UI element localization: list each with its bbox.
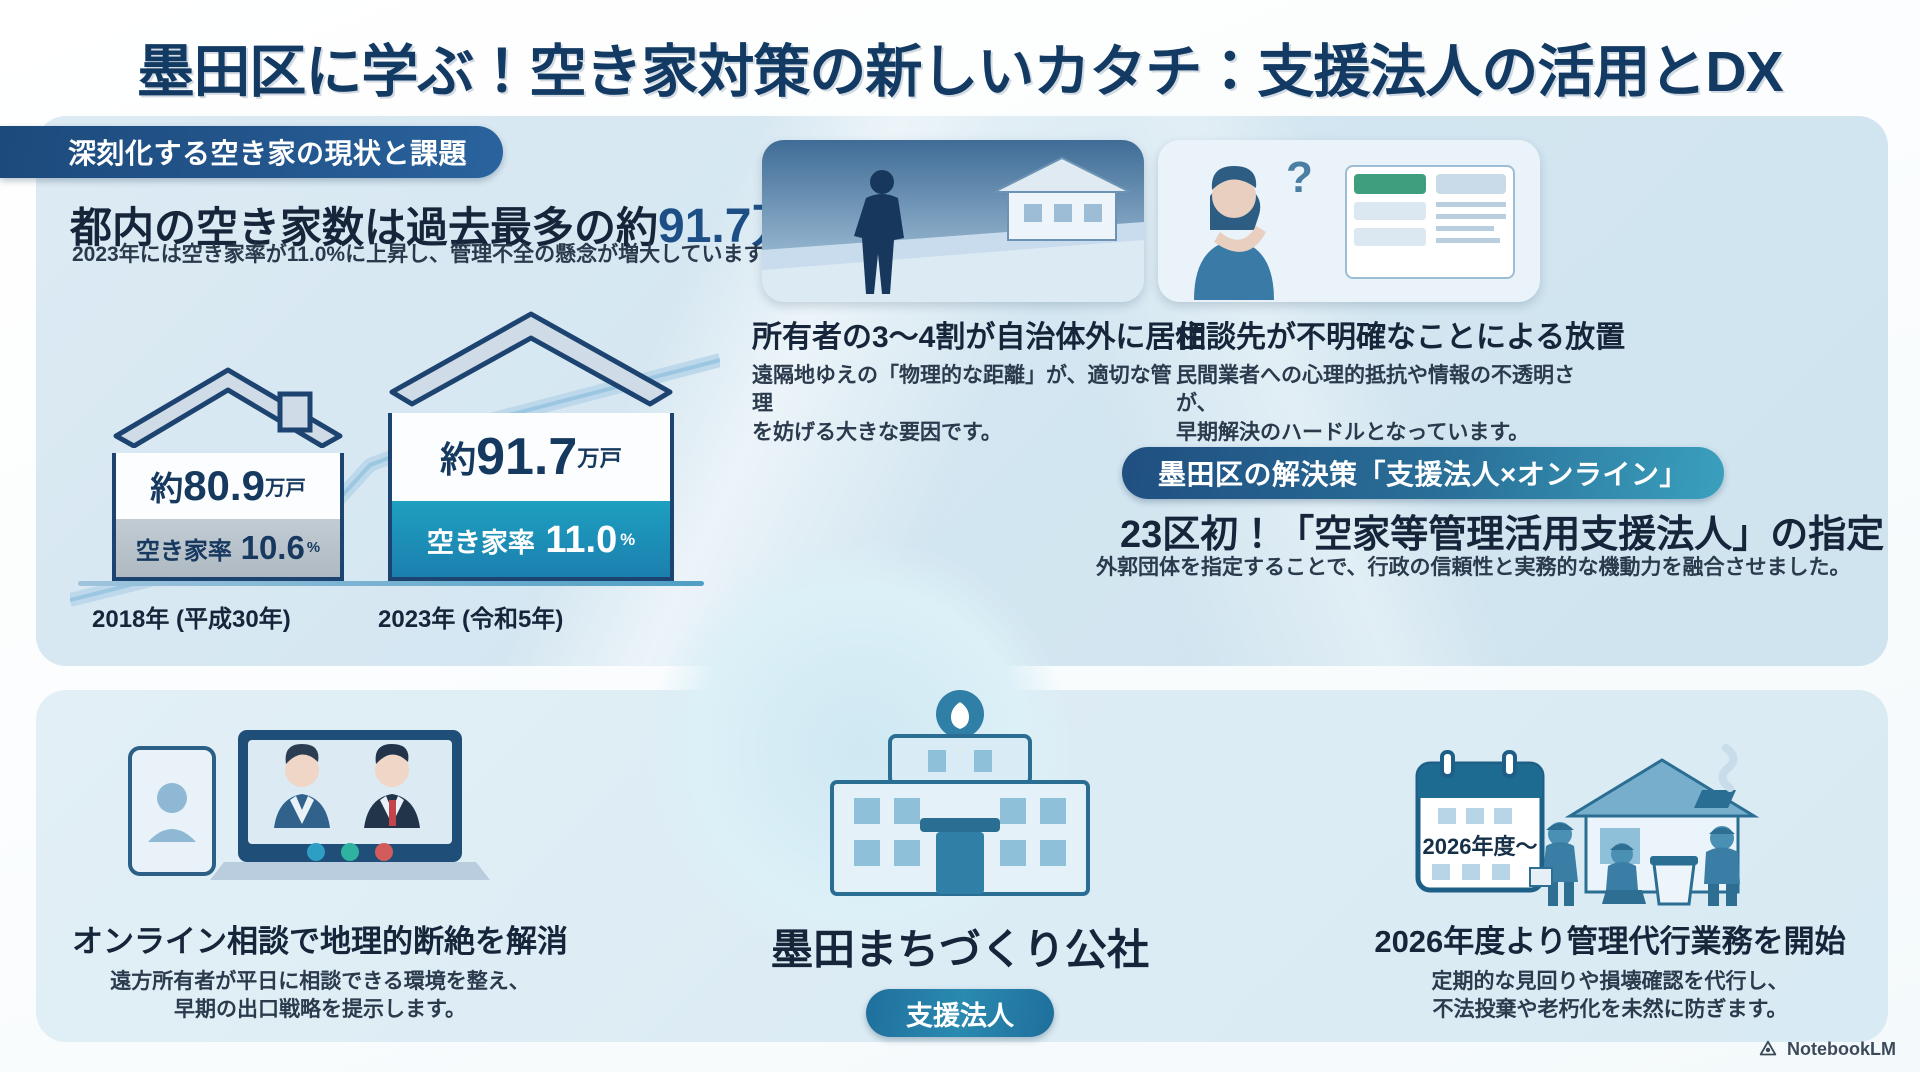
page-title-text: 墨田区に学ぶ！空き家対策の新しいカタチ：支援法人の活用とDX: [137, 26, 1782, 108]
badge-current-situation: 深刻化する空き家の現状と課題: [0, 126, 503, 178]
issue-card-1-title: 所有者の3〜4割が自治体外に居住: [752, 312, 1172, 356]
support-corporation-pill: 支援法人: [866, 989, 1054, 1037]
chart-xtick-2023: 2023年 (令和5年): [378, 599, 563, 634]
chart-bar-2018: 約80.9万戸 空き家率 10.6%: [112, 364, 344, 581]
bottom-column-online-title: オンライン相談で地理的断絶を解消: [60, 916, 580, 961]
issue-card-1-illustration: [762, 140, 1144, 302]
svg-text:?: ?: [1286, 153, 1313, 202]
chart-bar-2018-body: 約80.9万戸 空き家率 10.6%: [112, 453, 344, 581]
infographic-canvas: 墨田区に学ぶ！空き家対策の新しいカタチ：支援法人の活用とDX 深刻化する空き家の…: [0, 0, 1920, 1072]
bottom-column-management: 2026年度より管理代行業務を開始 定期的な見回りや損壊確認を代行し、 不法投棄…: [1330, 916, 1890, 1025]
solution-headline: 23区初！「空家等管理活用支援法人」の指定: [1120, 503, 1884, 558]
vacant-house-chart: 約80.9万戸 空き家率 10.6% 約91.7万戸 空き家率 11.0%: [70, 272, 710, 638]
chart-xtick-2018: 2018年 (平成30年): [92, 599, 291, 634]
solution-subtext: 外郭団体を指定することで、行政の信頼性と実務的な機動力を融合させました。: [1096, 551, 1851, 581]
issue-card-2-body: 民間業者への心理的抵抗や情報の不透明さが、 早期解決のハードルとなっています。: [1176, 362, 1616, 447]
chart-bar-2018-value: 約80.9万戸: [116, 453, 340, 519]
issue-card-2-title: 相談先が不明確なことによる放置: [1176, 312, 1616, 356]
issue-card-1-body: 遠隔地ゆえの「物理的な距離」が、適切な管理 を妨げる大きな要因です。: [752, 362, 1172, 447]
chart-baseline: [78, 581, 704, 586]
calendar-year-label: 2026年度〜: [1423, 834, 1538, 859]
chart-bar-2023-body: 約91.7万戸 空き家率 11.0%: [388, 413, 674, 581]
notebooklm-watermark: NotebookLM: [1757, 1038, 1896, 1060]
government-building-illustration: [770, 690, 1150, 910]
chart-bar-2023: 約91.7万戸 空き家率 11.0%: [388, 308, 674, 581]
issue-card-2-illustration: ?: [1158, 140, 1540, 302]
bottom-column-management-body: 定期的な見回りや損壊確認を代行し、 不法投棄や老朽化を未然に防ぎます。: [1330, 968, 1890, 1025]
bottom-column-online: オンライン相談で地理的断絶を解消 遠方所有者が平日に相談できる環境を整え、 早期…: [60, 916, 580, 1025]
chart-bar-2023-rate: 空き家率 11.0%: [392, 501, 670, 579]
calendar-and-maintenance-workers-illustration: 2026年度〜: [1410, 742, 1810, 907]
badge-solution-label: 墨田区の解決策「支援法人×オンライン」: [1158, 453, 1688, 493]
house-roof-2018-icon: [112, 364, 344, 448]
bottom-column-corporation-title: 墨田まちづくり公社: [690, 916, 1230, 977]
badge-current-situation-label: 深刻化する空き家の現状と課題: [68, 132, 467, 172]
chart-bar-2018-rate: 空き家率 10.6%: [116, 519, 340, 577]
bottom-column-corporation: 墨田まちづくり公社 支援法人: [690, 916, 1230, 1037]
page-title: 墨田区に学ぶ！空き家対策の新しいカタチ：支援法人の活用とDX: [0, 26, 1920, 108]
notebooklm-watermark-label: NotebookLM: [1787, 1039, 1896, 1060]
issue-card-1-text: 所有者の3〜4割が自治体外に居住 遠隔地ゆえの「物理的な距離」が、適切な管理 を…: [752, 312, 1172, 447]
bottom-column-online-body: 遠方所有者が平日に相談できる環境を整え、 早期の出口戦略を提示します。: [60, 968, 580, 1025]
left-subtext: 2023年には空き家率が11.0%に上昇し、管理不全の懸念が増大しています。: [72, 238, 783, 268]
bottom-column-management-title: 2026年度より管理代行業務を開始: [1330, 916, 1890, 961]
notebooklm-logo-icon: [1757, 1038, 1779, 1060]
video-call-illustration: [120, 712, 520, 902]
chart-bar-2023-value: 約91.7万戸: [392, 413, 670, 501]
house-roof-2023-icon: [388, 308, 674, 408]
issue-card-2-text: 相談先が不明確なことによる放置 民間業者への心理的抵抗や情報の不透明さが、 早期…: [1176, 312, 1616, 447]
badge-solution: 墨田区の解決策「支援法人×オンライン」: [1122, 447, 1724, 499]
